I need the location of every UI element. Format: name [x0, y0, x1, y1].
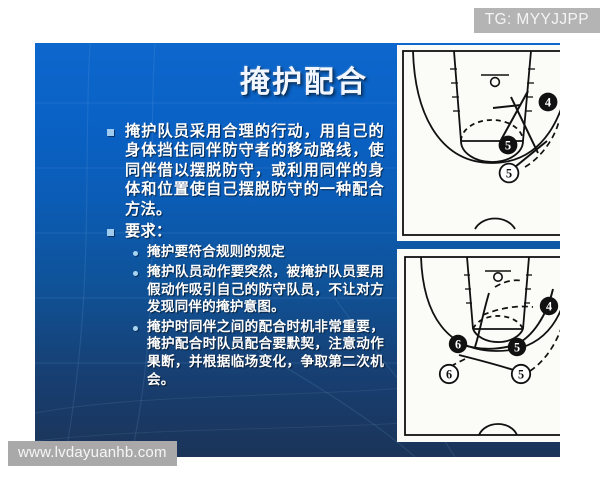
court-figure-top: 4 4 5 5 — [397, 45, 560, 241]
sub-bullet-text: 掩护要符合规则的规定 — [147, 244, 285, 262]
website-watermark: www.lvdayuanhb.com — [8, 441, 177, 467]
player-marker-4-filled: 4 — [540, 297, 558, 315]
bullet-item: 掩护队员采用合理的行动，用自己的身体挡住同伴防守者的移动路线，使同伴借以摆脱防守… — [107, 122, 384, 219]
page-title: 掩护配合 — [35, 57, 380, 101]
sub-bullet-list: 掩护要符合规则的规定 掩护队员动作要突然，被掩护队员要用假动作吸引自己的防守队员… — [107, 244, 384, 389]
round-bullet-icon — [133, 326, 138, 331]
player-marker-5-outline: 5 — [500, 164, 519, 183]
round-bullet-icon — [133, 251, 138, 256]
player-marker-6-outline: 6 — [440, 365, 458, 383]
svg-text:4: 4 — [545, 96, 552, 110]
bullet-item: 要求： — [107, 222, 384, 241]
sub-bullet-item: 掩护时同伴之间的配合时机非常重要，掩护配合时队员配合要默契，注意动作果断，并根据… — [133, 319, 384, 389]
player-marker-6-filled: 6 — [449, 335, 467, 353]
svg-text:4: 4 — [546, 299, 552, 313]
square-bullet-icon — [107, 229, 114, 236]
sub-bullet-text: 掩护时同伴之间的配合时机非常重要，掩护配合时队员配合要默契，注意动作果断，并根据… — [147, 319, 384, 389]
basketball-halfcourt-diagram-bottom: 4 4 5 5 6 — [397, 249, 560, 442]
svg-text:6: 6 — [455, 337, 461, 351]
slide-screenshot: 掩护配合 掩护队员采用合理的行动，用自己的身体挡住同伴防守者的移动路线，使同伴借… — [0, 0, 600, 480]
sub-bullet-text: 掩护队员动作要突然，被掩护队员要用假动作吸引自己的防守队员，不让对方发现同伴的掩… — [147, 264, 384, 317]
slide-body: 掩护队员采用合理的行动，用自己的身体挡住同伴防守者的移动路线，使同伴借以摆脱防守… — [107, 122, 384, 391]
square-bullet-icon — [107, 129, 114, 136]
svg-text:5: 5 — [506, 167, 512, 181]
svg-text:5: 5 — [505, 139, 511, 153]
basketball-halfcourt-diagram-top: 4 4 5 5 — [397, 45, 560, 241]
player-marker-5-filled: 5 — [508, 338, 526, 356]
player-marker-5-filled: 5 — [499, 136, 518, 155]
player-marker-4-filled: 4 — [539, 93, 558, 112]
sub-bullet-item: 掩护队员动作要突然，被掩护队员要用假动作吸引自己的防守队员，不让对方发现同伴的掩… — [133, 264, 384, 317]
svg-text:5: 5 — [518, 367, 524, 381]
round-bullet-icon — [133, 271, 138, 276]
presentation-slide: 掩护配合 掩护队员采用合理的行动，用自己的身体挡住同伴防守者的移动路线，使同伴借… — [35, 43, 560, 457]
court-figure-bottom: 4 4 5 5 6 — [397, 249, 560, 442]
player-marker-5-outline: 5 — [512, 365, 530, 383]
sub-bullet-item: 掩护要符合规则的规定 — [133, 244, 384, 262]
svg-text:6: 6 — [446, 367, 452, 381]
bullet-text: 要求： — [125, 222, 171, 241]
telegram-watermark: TG: MYYJJPP — [474, 8, 600, 33]
bullet-text: 掩护队员采用合理的行动，用自己的身体挡住同伴防守者的移动路线，使同伴借以摆脱防守… — [125, 122, 384, 219]
title-text: 掩护配合 — [240, 57, 368, 101]
svg-text:5: 5 — [514, 340, 520, 354]
